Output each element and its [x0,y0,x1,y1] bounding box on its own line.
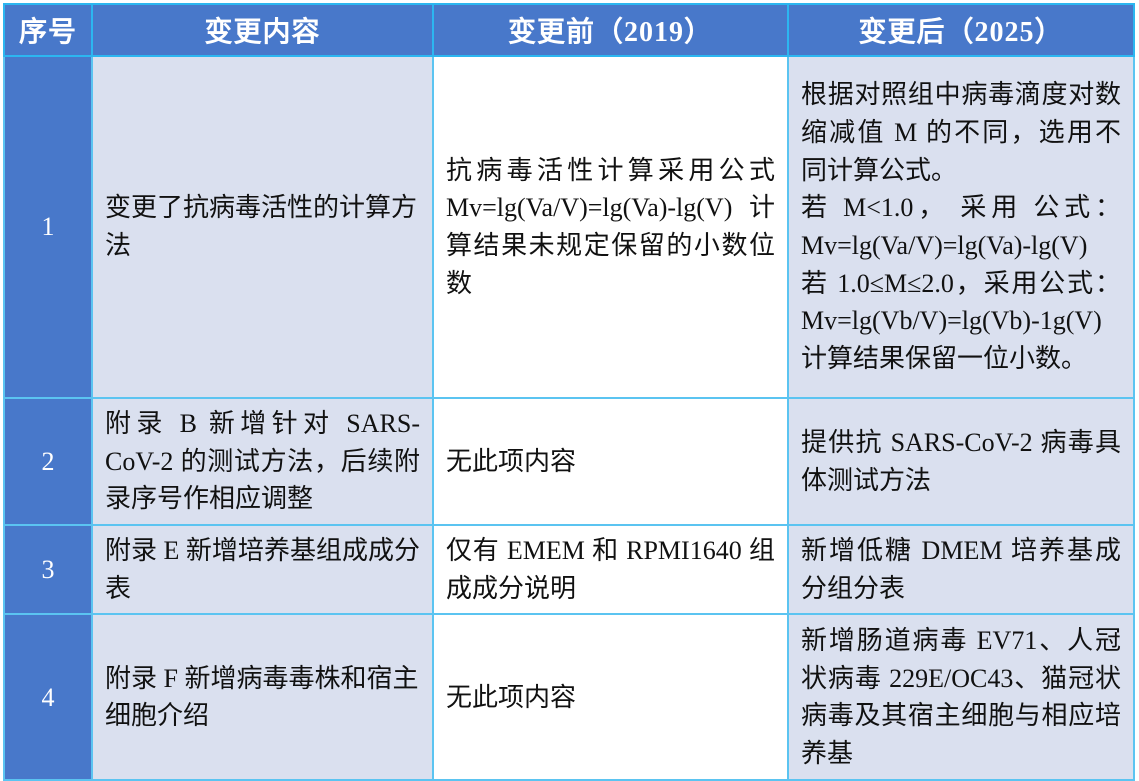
row-before-cell: 无此项内容 [433,398,788,525]
row-after-value: 提供抗 SARS-CoV-2 病毒具体测试方法 [801,424,1121,499]
document-page: 序号 变更内容 变更前（2019） 变更后（2025） 1 变更了抗病毒活性的计… [0,0,1139,779]
row-seq-cell: 3 [4,525,92,614]
row-before-cell: 仅有 EMEM 和 RPMI1640 组成成分说明 [433,525,788,614]
row-after-value: 根据对照组中病毒滴度对数缩减值 M 的不同，选用不同计算公式。 若 M<1.0，… [801,76,1121,378]
row-item-cell: 附录 F 新增病毒毒株和宿主细胞介绍 [92,614,433,780]
row-seq-value: 1 [9,208,87,246]
row-item-value: 附录 E 新增培养基组成成分表 [105,532,420,607]
table-body: 1 变更了抗病毒活性的计算方法 抗病毒活性计算采用公式Mv=lg(Va/V)=l… [4,56,1134,780]
table-row: 3 附录 E 新增培养基组成成分表 仅有 EMEM 和 RPMI1640 组成成… [4,525,1134,614]
row-before-value: 仅有 EMEM 和 RPMI1640 组成成分说明 [446,532,775,607]
change-comparison-table: 序号 变更内容 变更前（2019） 变更后（2025） 1 变更了抗病毒活性的计… [3,3,1135,781]
table-header: 序号 变更内容 变更前（2019） 变更后（2025） [4,4,1134,56]
row-item-cell: 附录 E 新增培养基组成成分表 [92,525,433,614]
row-seq-cell: 1 [4,56,92,398]
row-item-cell: 变更了抗病毒活性的计算方法 [92,56,433,398]
column-header-seq: 序号 [4,4,92,56]
column-header-after: 变更后（2025） [788,4,1134,56]
column-header-item: 变更内容 [92,4,433,56]
row-before-value: 无此项内容 [446,679,775,717]
row-item-cell: 附录 B 新增针对 SARS-CoV-2 的测试方法，后续附录序号作相应调整 [92,398,433,525]
row-before-cell: 抗病毒活性计算采用公式Mv=lg(Va/V)=lg(Va)-lg(V)计算结果未… [433,56,788,398]
row-after-value: 新增肠道病毒 EV71、人冠状病毒 229E/OC43、猫冠状病毒及其宿主细胞与… [801,622,1121,773]
column-header-before: 变更前（2019） [433,4,788,56]
row-seq-value: 4 [9,679,87,717]
row-after-cell: 新增肠道病毒 EV71、人冠状病毒 229E/OC43、猫冠状病毒及其宿主细胞与… [788,614,1134,780]
row-before-value: 抗病毒活性计算采用公式Mv=lg(Va/V)=lg(Va)-lg(V)计算结果未… [446,152,775,303]
row-seq-value: 3 [9,551,87,589]
row-seq-cell: 2 [4,398,92,525]
table-row: 2 附录 B 新增针对 SARS-CoV-2 的测试方法，后续附录序号作相应调整… [4,398,1134,525]
row-after-value: 新增低糖 DMEM 培养基成分组分表 [801,532,1121,607]
row-after-cell: 提供抗 SARS-CoV-2 病毒具体测试方法 [788,398,1134,525]
row-item-value: 变更了抗病毒活性的计算方法 [105,189,420,264]
row-item-value: 附录 F 新增病毒毒株和宿主细胞介绍 [105,660,420,735]
row-seq-value: 2 [9,443,87,481]
header-row: 序号 变更内容 变更前（2019） 变更后（2025） [4,4,1134,56]
row-after-cell: 新增低糖 DMEM 培养基成分组分表 [788,525,1134,614]
row-item-value: 附录 B 新增针对 SARS-CoV-2 的测试方法，后续附录序号作相应调整 [105,405,420,518]
table-row: 1 变更了抗病毒活性的计算方法 抗病毒活性计算采用公式Mv=lg(Va/V)=l… [4,56,1134,398]
row-after-cell: 根据对照组中病毒滴度对数缩减值 M 的不同，选用不同计算公式。 若 M<1.0，… [788,56,1134,398]
row-before-cell: 无此项内容 [433,614,788,780]
row-before-value: 无此项内容 [446,443,775,481]
row-seq-cell: 4 [4,614,92,780]
table-row: 4 附录 F 新增病毒毒株和宿主细胞介绍 无此项内容 新增肠道病毒 EV71、人… [4,614,1134,780]
